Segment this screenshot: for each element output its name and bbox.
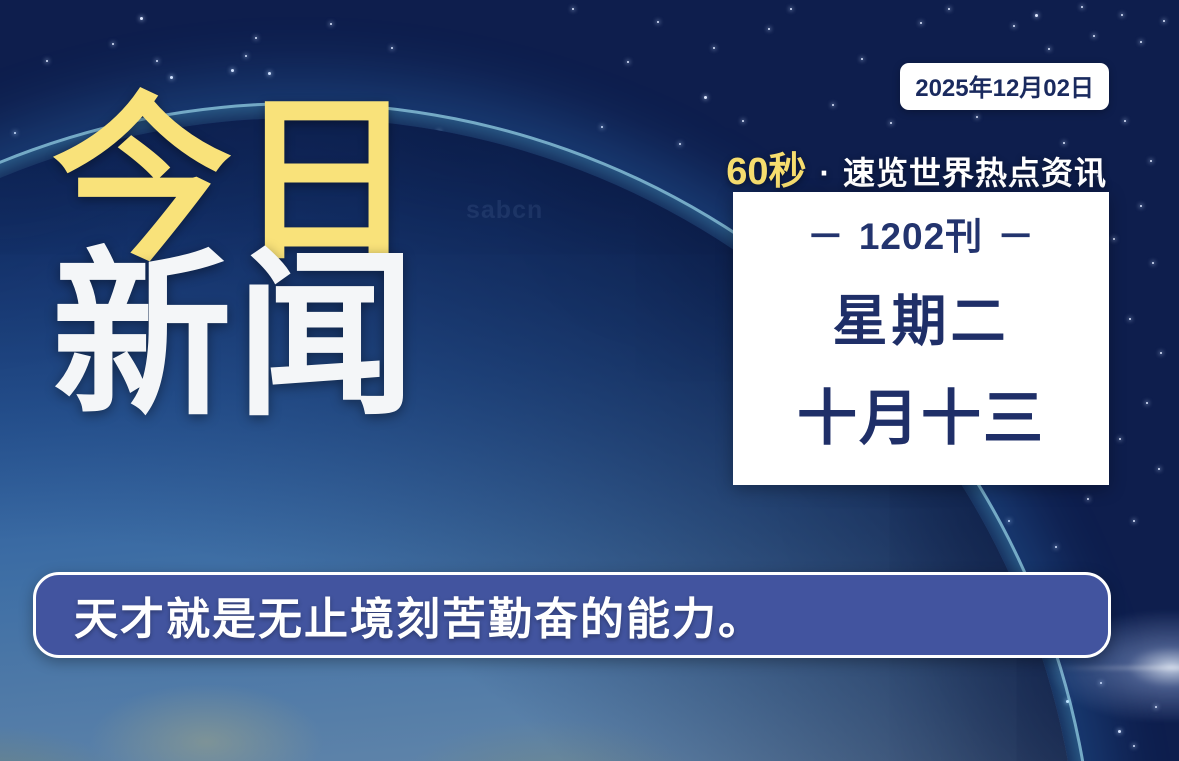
- tagline-seconds: 60秒: [726, 151, 806, 193]
- tagline-text: 速览世界热点资讯: [843, 155, 1107, 191]
- star: [1087, 498, 1089, 500]
- star: [1121, 14, 1123, 16]
- star: [245, 55, 247, 57]
- star: [1140, 205, 1142, 207]
- issue-dash-left: －: [793, 216, 859, 257]
- star: [1013, 25, 1015, 27]
- star: [1048, 48, 1050, 50]
- watermark-text: sabcn: [466, 196, 543, 225]
- star: [231, 69, 234, 72]
- page-title: 今日 新闻: [52, 96, 420, 424]
- star: [627, 61, 629, 63]
- star: [1150, 160, 1152, 162]
- star: [1133, 745, 1135, 747]
- star: [890, 122, 892, 124]
- star: [1129, 318, 1131, 320]
- tagline-separator-dot: ·: [815, 155, 834, 191]
- star: [601, 126, 603, 128]
- star: [391, 47, 393, 49]
- star: [742, 120, 744, 122]
- star: [790, 8, 792, 10]
- star: [1113, 238, 1115, 240]
- star: [948, 8, 950, 10]
- star: [768, 28, 770, 30]
- star: [14, 132, 16, 134]
- star: [832, 104, 834, 106]
- star: [1055, 546, 1057, 548]
- star: [572, 8, 574, 10]
- star: [704, 96, 707, 99]
- issue-info-card: －1202刊－ 星期二 十月十三: [733, 192, 1109, 485]
- date-badge: 2025年12月02日: [900, 63, 1109, 110]
- star: [1146, 402, 1148, 404]
- star: [920, 22, 922, 24]
- star: [1163, 20, 1165, 22]
- star: [46, 60, 48, 62]
- quote-bar: 天才就是无止境刻苦勤奋的能力。: [33, 572, 1111, 658]
- page-title-line-2: 新闻: [52, 251, 420, 424]
- star: [1160, 352, 1162, 354]
- star: [1008, 520, 1010, 522]
- news-poster: sabcn 2025年12月02日 60秒 · 速览世界热点资讯 今日 新闻 －…: [0, 0, 1179, 761]
- star: [268, 72, 271, 75]
- star: [1152, 262, 1154, 264]
- star: [1119, 438, 1121, 440]
- star: [140, 17, 143, 20]
- star: [1158, 468, 1160, 470]
- star: [330, 23, 332, 25]
- star: [112, 43, 114, 45]
- star: [713, 47, 715, 49]
- star: [1124, 120, 1126, 122]
- star: [1035, 14, 1038, 17]
- star: [156, 60, 158, 62]
- star: [1093, 35, 1095, 37]
- tagline: 60秒 · 速览世界热点资讯: [726, 140, 1107, 195]
- issue-number-row: －1202刊－: [793, 206, 1049, 260]
- star: [1140, 41, 1142, 43]
- lunar-date-label: 十月十三: [797, 370, 1045, 457]
- star: [861, 58, 863, 60]
- quote-text: 天才就是无止境刻苦勤奋的能力。: [36, 583, 764, 647]
- star: [976, 116, 978, 118]
- issue-dash-right: －: [983, 216, 1049, 257]
- star: [1081, 6, 1083, 8]
- star: [1133, 520, 1135, 522]
- star: [1118, 730, 1121, 733]
- star: [657, 21, 659, 23]
- issue-number: 1202刊: [859, 216, 983, 257]
- star: [255, 37, 257, 39]
- weekday-label: 星期二: [832, 276, 1009, 356]
- star: [679, 143, 681, 145]
